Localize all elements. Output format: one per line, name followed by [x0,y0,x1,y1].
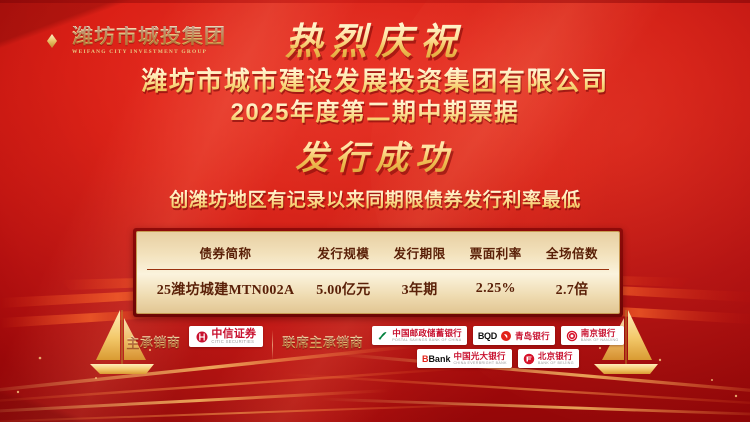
everbright-name-cn: 中国光大银行 [453,352,506,362]
nanjing-text: 南京银行 BANK OF NANJING [581,329,619,343]
poster-canvas: 潍坊市城投集团 WEIFANG CITY INVESTMENT GROUP 热烈… [0,0,750,422]
top-accent-bar [0,0,750,3]
bond-detail-panel: 债券简称 发行规模 发行期限 票面利率 全场倍数 25潍坊城建MTN002A 5… [133,228,623,317]
lead-underwriter-label: 主承销商 [126,332,180,351]
joint-underwriter-row-1: 中国邮政储蓄银行 POSTAL SAVINGS BANK OF CHINA BQ… [372,326,623,345]
nanjing-mark-icon [566,330,578,342]
bank-of-beijing-logo-icon: 北京银行 BANK OF BEIJING [518,349,579,368]
company-name-en: WEIFANG CITY INVESTMENT GROUP [72,50,226,55]
joint-underwriter-logos: 中国邮政储蓄银行 POSTAL SAVINGS BANK OF CHINA BQ… [372,326,623,368]
bond-detail-table: 债券简称 发行规模 发行期限 票面利率 全场倍数 25潍坊城建MTN002A 5… [147,238,609,305]
bqd-mark-icon [500,330,512,342]
header-issue-term: 发行期限 [383,238,457,270]
beijing-mark-icon [523,353,535,365]
postal-savings-bank-logo-icon: 中国邮政储蓄银行 POSTAL SAVINGS BANK OF CHINA [372,326,467,345]
everbright-text: 中国光大银行 CHINA EVERBRIGHT BANK [453,352,506,366]
psbc-name-cn: 中国邮政储蓄银行 [392,329,462,339]
joint-underwriters-label: 联席主承销商 [282,332,363,351]
nanjing-name-en: BANK OF NANJING [581,338,619,342]
table-body: 25潍坊城建MTN002A 5.00亿元 3年期 2.25% 2.7倍 [147,270,609,306]
table-row: 25潍坊城建MTN002A 5.00亿元 3年期 2.25% 2.7倍 [147,270,609,306]
cell-subscription-multiple: 2.7倍 [535,270,609,306]
table-header-row: 债券简称 发行规模 发行期限 票面利率 全场倍数 [147,238,609,270]
cell-issue-scale: 5.00亿元 [304,270,383,306]
company-logo-text: 潍坊市城投集团 WEIFANG CITY INVESTMENT GROUP [72,26,226,55]
header-subscription-multiple: 全场倍数 [535,238,609,270]
everbright-name-en: CHINA EVERBRIGHT BANK [453,361,506,365]
nanjing-name-cn: 南京银行 [581,329,619,339]
cell-coupon-rate: 2.25% [457,270,536,306]
beijing-name-en: BANK OF BEIJING [538,361,574,365]
header-bond-name: 债券简称 [147,238,304,270]
cell-bond-name: 25潍坊城建MTN002A [147,270,304,306]
headline-company: 潍坊市城市建设发展投资集团有限公司 [0,65,750,98]
headline-celebration: 热烈庆祝 [285,22,465,65]
joint-underwriter-row-2: BBank 中国光大银行 CHINA EVERBRIGHT BANK 北京银行 … [372,349,623,368]
headline-success: 发行成功 [295,131,455,179]
header-coupon-rate: 票面利率 [457,238,536,270]
citic-securities-logo-icon: 中信证券 CITIC SECURITIES [189,326,263,347]
citic-mark-icon [196,331,208,343]
sponsors-bar: 主承销商 中信证券 CITIC SECURITIES 联席主承销商 [0,326,750,382]
bank-of-qingdao-logo-icon: BQD 青岛银行 [473,326,555,345]
cell-issue-term: 3年期 [383,270,457,306]
psbc-name-en: POSTAL SAVINGS BANK OF CHINA [392,338,462,342]
sponsor-divider [272,330,273,360]
citic-text: 中信证券 CITIC SECURITIES [211,328,256,345]
beijing-name-cn: 北京银行 [538,352,574,362]
crescent-diamond-emblem-icon [22,20,64,62]
table-header: 债券简称 发行规模 发行期限 票面利率 全场倍数 [147,238,609,270]
headline-instrument: 2025年度第二期中期票据 [0,98,750,129]
beijing-text: 北京银行 BANK OF BEIJING [538,352,574,366]
everbright-abbr-text: Bank [428,354,450,364]
company-name-cn: 潍坊市城投集团 [72,26,226,47]
bqd-name-cn: 青岛银行 [515,330,550,342]
bqd-abbr: BQD [478,331,497,341]
bank-of-nanjing-logo-icon: 南京银行 BANK OF NANJING [561,326,624,345]
citic-name-en: CITIC SECURITIES [211,340,256,345]
company-logo: 潍坊市城投集团 WEIFANG CITY INVESTMENT GROUP [22,20,226,62]
headline-record-note: 创潍坊地区有记录以来同期限债券发行利率最低 [0,185,750,212]
psbc-text: 中国邮政储蓄银行 POSTAL SAVINGS BANK OF CHINA [392,329,462,343]
bond-detail-inner: 债券简称 发行规模 发行期限 票面利率 全场倍数 25潍坊城建MTN002A 5… [136,231,620,314]
china-everbright-bank-logo-icon: BBank 中国光大银行 CHINA EVERBRIGHT BANK [417,349,512,368]
everbright-abbr: BBank [422,354,451,364]
postal-savings-mark-icon [377,330,389,342]
header-issue-scale: 发行规模 [304,238,383,270]
